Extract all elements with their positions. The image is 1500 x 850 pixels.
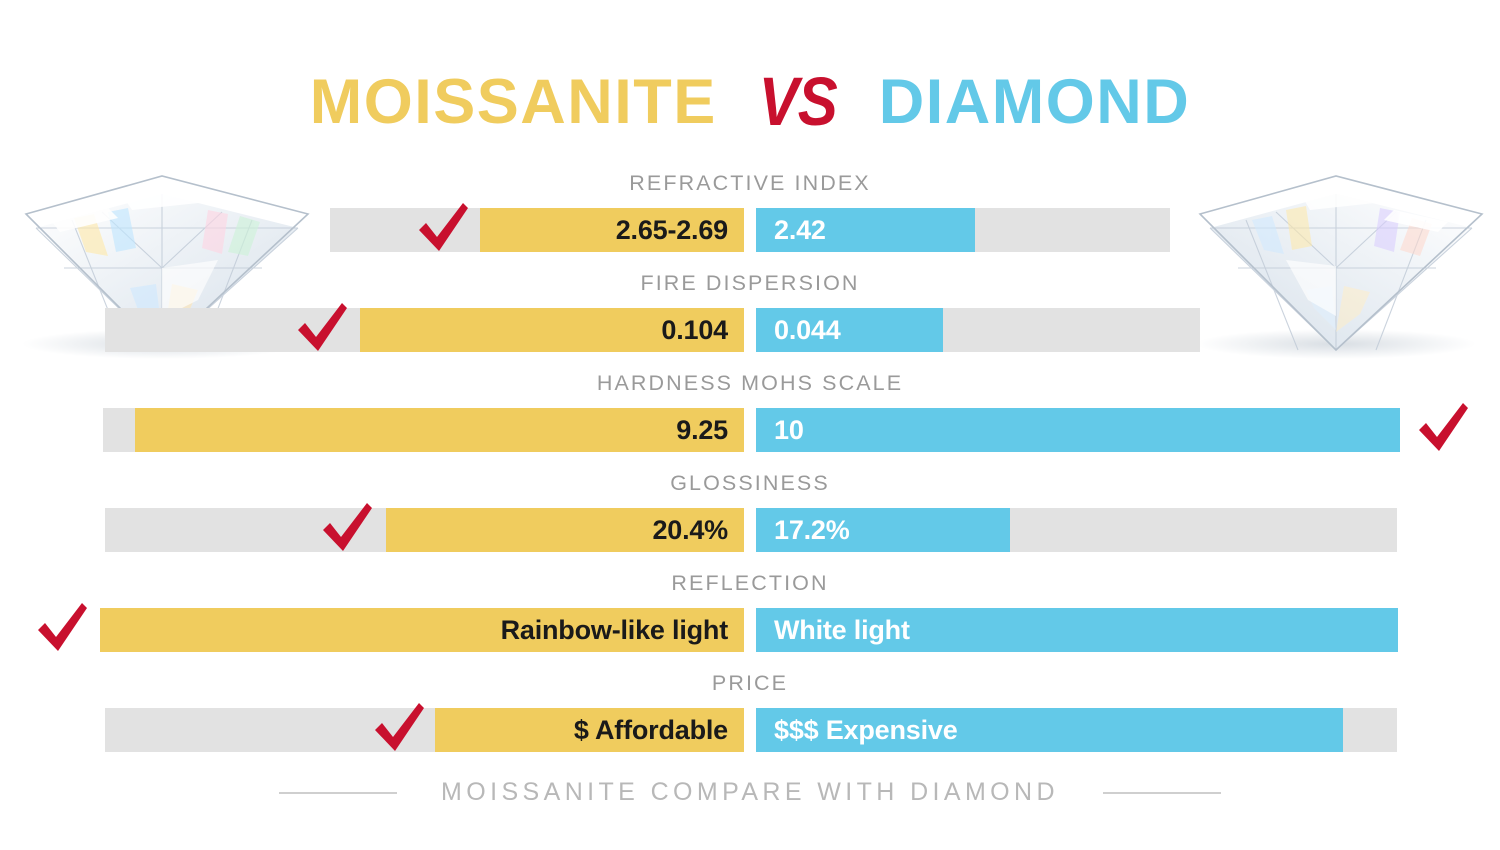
- comparison-row: PRICE$ Affordable$$$ Expensive: [0, 665, 1500, 765]
- comparison-row: FIRE DISPERSION0.1040.044: [0, 265, 1500, 365]
- bar-gutter: [744, 208, 756, 252]
- bar-gutter: [744, 308, 756, 352]
- footer: MOISSANITE COMPARE WITH DIAMOND: [0, 778, 1500, 807]
- moissanite-bar[interactable]: 2.65-2.69: [480, 208, 744, 252]
- diamond-value: 0.044: [774, 315, 841, 346]
- moissanite-value: 2.65-2.69: [616, 215, 728, 246]
- moissanite-value: $ Affordable: [574, 715, 728, 746]
- moissanite-value: 9.25: [676, 415, 728, 446]
- moissanite-value: 0.104: [661, 315, 728, 346]
- moissanite-bar[interactable]: 9.25: [135, 408, 744, 452]
- moissanite-bar[interactable]: 0.104: [360, 308, 744, 352]
- winner-check-icon: [1414, 399, 1472, 457]
- winner-check-icon: [318, 499, 376, 557]
- moissanite-bar[interactable]: $ Affordable: [435, 708, 744, 752]
- diamond-bar[interactable]: 17.2%: [756, 508, 1010, 552]
- title-moissanite: MOISSANITE: [310, 71, 717, 134]
- bar-gutter: [744, 608, 756, 652]
- bar-gutter: [744, 708, 756, 752]
- moissanite-bar[interactable]: 20.4%: [386, 508, 744, 552]
- row-bars: Rainbow-like lightWhite light: [0, 608, 1500, 652]
- diamond-bar[interactable]: 0.044: [756, 308, 943, 352]
- row-bars: $ Affordable$$$ Expensive: [0, 708, 1500, 752]
- diamond-value: 17.2%: [774, 515, 850, 546]
- winner-check-icon: [414, 199, 472, 257]
- moissanite-value: Rainbow-like light: [501, 615, 728, 646]
- moissanite-bar[interactable]: Rainbow-like light: [100, 608, 744, 652]
- comparison-row: HARDNESS MOHS SCALE9.2510: [0, 365, 1500, 465]
- winner-check-icon: [33, 599, 91, 657]
- row-bars: 9.2510: [0, 408, 1500, 452]
- comparison-row: REFRACTIVE INDEX2.65-2.692.42: [0, 165, 1500, 265]
- row-label: REFRACTIVE INDEX: [0, 171, 1500, 196]
- bar-gutter: [744, 508, 756, 552]
- row-label: REFLECTION: [0, 571, 1500, 596]
- diamond-value: $$$ Expensive: [774, 715, 958, 746]
- comparison-rows: REFRACTIVE INDEX2.65-2.692.42FIRE DISPER…: [0, 165, 1500, 765]
- winner-check-icon: [293, 299, 351, 357]
- diamond-bar[interactable]: 2.42: [756, 208, 975, 252]
- row-bars: 0.1040.044: [0, 308, 1500, 352]
- diamond-value: 10: [774, 415, 804, 446]
- diamond-value: White light: [774, 615, 910, 646]
- footer-caption: MOISSANITE COMPARE WITH DIAMOND: [441, 778, 1059, 807]
- row-label: HARDNESS MOHS SCALE: [0, 371, 1500, 396]
- row-label: PRICE: [0, 671, 1500, 696]
- winner-check-icon: [370, 699, 428, 757]
- bar-gutter: [744, 408, 756, 452]
- footer-rule-left: [279, 792, 397, 794]
- moissanite-value: 20.4%: [652, 515, 728, 546]
- footer-rule-right: [1103, 792, 1221, 794]
- diamond-value: 2.42: [774, 215, 826, 246]
- row-label: FIRE DISPERSION: [0, 271, 1500, 296]
- title-vs: VS: [759, 68, 837, 136]
- diamond-bar[interactable]: $$$ Expensive: [756, 708, 1343, 752]
- infographic-canvas: MOISSANITE VS DIAMOND: [0, 0, 1500, 850]
- page-title: MOISSANITE VS DIAMOND: [0, 62, 1500, 142]
- row-label: GLOSSINESS: [0, 471, 1500, 496]
- title-diamond: DIAMOND: [879, 71, 1190, 134]
- diamond-bar[interactable]: White light: [756, 608, 1398, 652]
- row-bars: 2.65-2.692.42: [0, 208, 1500, 252]
- comparison-row: REFLECTIONRainbow-like lightWhite light: [0, 565, 1500, 665]
- row-bars: 20.4%17.2%: [0, 508, 1500, 552]
- comparison-row: GLOSSINESS20.4%17.2%: [0, 465, 1500, 565]
- diamond-bar[interactable]: 10: [756, 408, 1400, 452]
